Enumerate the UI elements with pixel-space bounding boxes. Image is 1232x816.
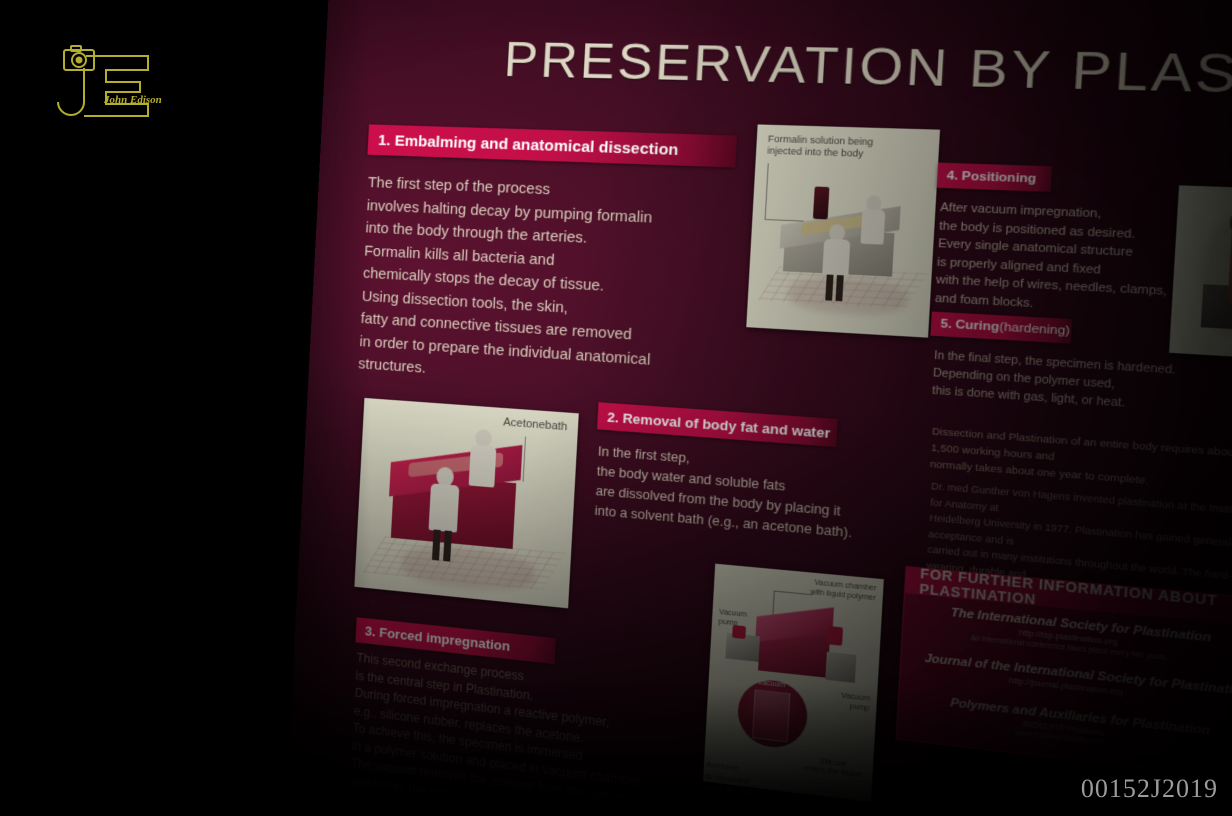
image-card-acetonebath: Acetonebath [354, 398, 578, 608]
vacuum-label-pump-right: Vacuum pump [824, 690, 871, 714]
exhibit-panel-wrap: PRESERVATION BY PLASTINATION 1. Embalmin… [287, 0, 1232, 816]
photo-serial: 00152J2019 [1081, 774, 1218, 804]
image-card-positioning: Positioning [1169, 185, 1232, 360]
section-3-heading-label: 3. Forced impregnation [365, 623, 511, 654]
section-5-heading: 5. Curing (hardening) [930, 312, 1072, 344]
illustration-pump-right [825, 652, 856, 683]
watermark-logo: John Edison [44, 42, 162, 124]
section-2-heading: 2. Removal of body fat and water [597, 402, 838, 447]
section-5-heading-sublabel: (hardening) [999, 321, 1070, 338]
section-1-heading-label: 1. Embalming and anatomical dissection [378, 131, 679, 158]
photograph: PRESERVATION BY PLASTINATION 1. Embalmin… [0, 0, 1232, 816]
section-4-heading: 4. Positioning [937, 163, 1053, 192]
leader-line [523, 436, 528, 481]
illustration-pump-left-cap [732, 625, 746, 639]
watermark-name: John Edison [104, 94, 162, 106]
section-2-heading-label: 2. Removal of body fat and water [607, 409, 831, 441]
section-4-heading-label: 4. Positioning [946, 169, 1036, 185]
illustration-pump-right-cap [827, 626, 843, 646]
section-3-body: This second exchange process is the cent… [349, 650, 699, 816]
illustration-person-front [426, 466, 461, 560]
section-1-body: The first step of the process involves h… [358, 172, 724, 400]
camera-icon [64, 46, 94, 70]
image-card-acetonebath-caption: Acetonebath [503, 416, 568, 435]
illustration-person-right [858, 195, 887, 263]
illustration-person-right [466, 428, 499, 502]
vacuum-label-silicone: Silicone enters the tissue [799, 755, 866, 782]
info-box: FOR FURTHER INFORMATION ABOUT PLASTINATI… [895, 566, 1232, 782]
illustration-bottle [813, 187, 830, 220]
illustration-person-front [820, 224, 854, 301]
image-card-formalin-caption: Formalin solution being injected into th… [767, 133, 916, 162]
page-title: PRESERVATION BY PLASTINATION [502, 31, 1232, 114]
image-card-formalin: Formalin solution being injected into th… [746, 124, 940, 337]
exhibit-panel: PRESERVATION BY PLASTINATION 1. Embalmin… [287, 0, 1232, 816]
section-5-body: In the final step, the specimen is harde… [931, 347, 1232, 420]
leader-line [765, 163, 807, 221]
section-5-heading-label: 5. Curing [940, 318, 1000, 334]
section-2-body: In the first step, the body water and so… [594, 442, 892, 547]
section-1-heading: 1. Embalming and anatomical dissection [367, 124, 737, 167]
